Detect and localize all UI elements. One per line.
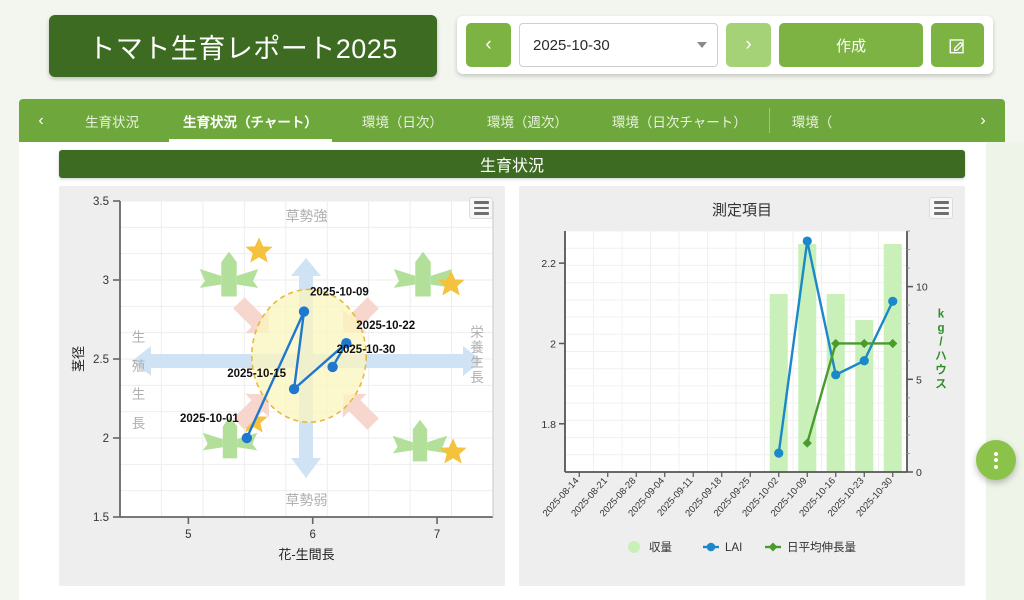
svg-text:6: 6 <box>310 529 316 541</box>
svg-text:10: 10 <box>916 282 928 294</box>
hamburger-line <box>474 207 489 210</box>
scatter-plot-svg: 草勢強草勢弱生殖生長栄養生長1.522.533.5567花-生間長茎径2025-… <box>59 186 505 586</box>
create-button[interactable]: 作成 <box>779 23 923 67</box>
hamburger-line <box>474 212 489 215</box>
svg-text:5: 5 <box>916 374 922 386</box>
next-date-button[interactable]: › <box>726 23 771 67</box>
dot <box>994 458 998 462</box>
date-select-value: 2025-10-30 <box>533 37 697 54</box>
hamburger-line <box>474 201 489 204</box>
measurement-chart-title: 測定項目 <box>519 199 965 220</box>
tab-list: 生育状況 生育状況（チャート） 環境（日次） 環境（週次） 環境（日次チャート）… <box>63 99 961 142</box>
svg-text:5: 5 <box>185 529 191 541</box>
more-actions-fab[interactable] <box>976 440 1016 480</box>
svg-text:2025-10-01: 2025-10-01 <box>180 413 239 425</box>
svg-text:栄養生長: 栄養生長 <box>470 325 484 385</box>
svg-text:2025-10-09: 2025-10-09 <box>310 287 369 299</box>
svg-text:茎径: 茎径 <box>71 346 86 372</box>
tab-seiiku-jokyo-chart[interactable]: 生育状況（チャート） <box>161 99 340 142</box>
top-bar: トマト生育レポート2025 ‹ 2025-10-30 › 作成 <box>0 0 1024 90</box>
svg-text:日平均伸長量: 日平均伸長量 <box>787 540 856 554</box>
charts-row: 草勢強草勢弱生殖生長栄養生長1.522.533.5567花-生間長茎径2025-… <box>59 186 965 586</box>
svg-text:3.5: 3.5 <box>93 196 109 208</box>
prev-date-button[interactable]: ‹ <box>466 23 511 67</box>
svg-text:収量: 収量 <box>649 541 672 554</box>
app-root: トマト生育レポート2025 ‹ 2025-10-30 › 作成 ‹ 生育状況 生… <box>0 0 1024 600</box>
svg-text:2.2: 2.2 <box>541 258 556 270</box>
hamburger-line <box>934 201 949 204</box>
svg-text:草勢弱: 草勢弱 <box>286 492 328 508</box>
section-header-text: 生育状況 <box>480 152 544 176</box>
chart-menu-button-right[interactable] <box>929 197 953 219</box>
chart-menu-button-left[interactable] <box>469 197 493 219</box>
tab-kankyo-shuji[interactable]: 環境（週次） <box>465 99 590 142</box>
svg-text:3: 3 <box>103 275 109 287</box>
svg-text:1.5: 1.5 <box>93 512 109 524</box>
svg-text:1.8: 1.8 <box>541 419 556 431</box>
tab-kankyo-nichiji-chart[interactable]: 環境（日次チャート） <box>590 99 769 142</box>
page-title-text: トマト生育レポート2025 <box>88 27 398 66</box>
measurement-chart: 測定項目 1.822.20510kg/ハウス2025-08-142025-08-… <box>519 186 965 586</box>
hamburger-line <box>934 207 949 210</box>
content-panel: 生育状況 草勢強草勢弱生殖生長栄養生長1.522.533.5567花-生間長茎径… <box>19 142 1005 600</box>
svg-text:2025-10-22: 2025-10-22 <box>356 320 415 332</box>
right-rail <box>986 142 1024 600</box>
growth-diagnosis-chart: 草勢強草勢弱生殖生長栄養生長1.522.533.5567花-生間長茎径2025-… <box>59 186 505 586</box>
svg-text:kg/ハウス: kg/ハウス <box>935 309 947 391</box>
edit-button[interactable] <box>931 23 984 67</box>
svg-text:2.5: 2.5 <box>93 354 109 366</box>
tab-kankyo-nichiji[interactable]: 環境（日次） <box>340 99 465 142</box>
tab-bar: ‹ 生育状況 生育状況（チャート） 環境（日次） 環境（週次） 環境（日次チャー… <box>19 99 1005 142</box>
dot <box>994 465 998 469</box>
svg-text:花-生間長: 花-生間長 <box>278 547 334 562</box>
tab-seiiku-jokyo[interactable]: 生育状況 <box>63 99 161 142</box>
chevron-down-icon <box>697 42 707 48</box>
svg-text:草勢強: 草勢強 <box>286 208 328 224</box>
tab-kankyo-more[interactable]: 環境（ <box>770 99 855 142</box>
svg-text:0: 0 <box>916 467 922 479</box>
hamburger-line <box>934 212 949 215</box>
date-select[interactable]: 2025-10-30 <box>519 23 718 67</box>
section-header: 生育状況 <box>59 150 965 178</box>
svg-text:2025-10-30: 2025-10-30 <box>337 344 396 356</box>
tabs-scroll-right[interactable]: › <box>961 99 1005 142</box>
edit-icon <box>949 37 966 54</box>
svg-text:2: 2 <box>550 338 556 350</box>
report-toolbar: ‹ 2025-10-30 › 作成 <box>457 16 993 74</box>
tabs-scroll-left[interactable]: ‹ <box>19 99 63 142</box>
svg-text:2: 2 <box>103 433 109 445</box>
svg-text:7: 7 <box>434 529 440 541</box>
svg-text:LAI: LAI <box>725 542 742 554</box>
dot <box>994 452 998 456</box>
combo-chart-svg: 1.822.20510kg/ハウス2025-08-142025-08-21202… <box>519 186 965 586</box>
page-title: トマト生育レポート2025 <box>49 15 437 77</box>
svg-text:2025-10-15: 2025-10-15 <box>227 368 286 380</box>
